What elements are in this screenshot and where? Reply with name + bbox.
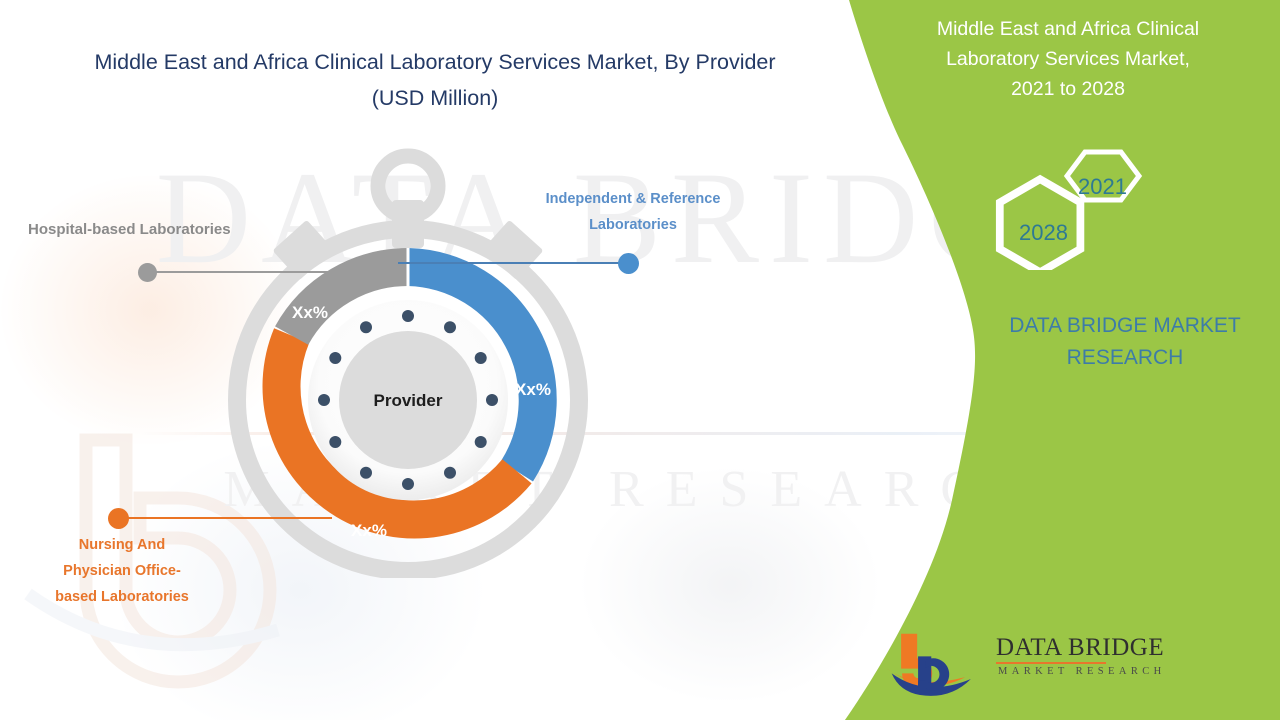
- infographic-canvas: DATA BRIDGE MARKET RESEARCH Middle East …: [0, 0, 1280, 720]
- callout-hospital-dot[interactable]: [138, 263, 157, 282]
- callout-nursing-label-line3: based Laboratories: [32, 588, 212, 607]
- page-title: Middle East and Africa Clinical Laborato…: [40, 44, 830, 116]
- callout-nursing-dot[interactable]: [108, 508, 129, 529]
- callout-independent-dot[interactable]: [618, 253, 639, 274]
- callout-hospital-label: Hospital-based Laboratories: [28, 220, 328, 239]
- donut-center-label: Provider: [374, 391, 443, 410]
- logo-divider: [996, 662, 1106, 664]
- callout-independent-leader-line: [398, 262, 628, 264]
- callout-independent-label-line2: Laboratories: [508, 216, 758, 235]
- panel-title-line3: 2021 to 2028: [900, 74, 1236, 104]
- panel-title: Middle East and Africa Clinical Laborato…: [900, 14, 1236, 104]
- year-hexagons: 2028 2021: [975, 142, 1175, 270]
- brand-name: DATA BRIDGE MARKET RESEARCH: [960, 310, 1280, 374]
- callout-nursing-leader-line: [127, 517, 332, 519]
- callout-nursing-label-line1: Nursing And: [32, 536, 212, 555]
- logo[interactable]: DATA BRIDGE MARKET RESEARCH: [884, 628, 1112, 698]
- callout-independent[interactable]: Independent & Reference Laboratories: [508, 190, 808, 280]
- hexagon-shapes-icon: [975, 142, 1175, 270]
- logo-name: DATA BRIDGE: [996, 634, 1164, 662]
- callout-nursing[interactable]: Nursing And Physician Office- based Labo…: [42, 508, 362, 618]
- page-title-line2: (USD Million): [40, 80, 830, 116]
- brand-name-line2: RESEARCH: [960, 342, 1280, 374]
- brand-name-line1: DATA BRIDGE MARKET: [960, 310, 1280, 342]
- callout-nursing-label-line2: Physician Office-: [32, 562, 212, 581]
- callout-hospital-leader-line: [150, 271, 365, 273]
- logo-tagline: MARKET RESEARCH: [998, 666, 1166, 677]
- donut-label-hospital: Xx%: [292, 303, 328, 322]
- donut-label-independent: Xx%: [515, 380, 551, 399]
- hexagon-year-2028: 2028: [1019, 220, 1068, 246]
- panel-title-line2: Laboratory Services Market,: [900, 44, 1236, 74]
- logo-mark-icon: [884, 630, 988, 696]
- callout-independent-label-line1: Independent & Reference: [508, 190, 758, 209]
- callout-hospital[interactable]: Hospital-based Laboratories: [28, 220, 388, 290]
- hexagon-year-2021: 2021: [1078, 174, 1127, 200]
- page-title-line1: Middle East and Africa Clinical Laborato…: [94, 50, 775, 74]
- panel-title-line1: Middle East and Africa Clinical: [900, 14, 1236, 44]
